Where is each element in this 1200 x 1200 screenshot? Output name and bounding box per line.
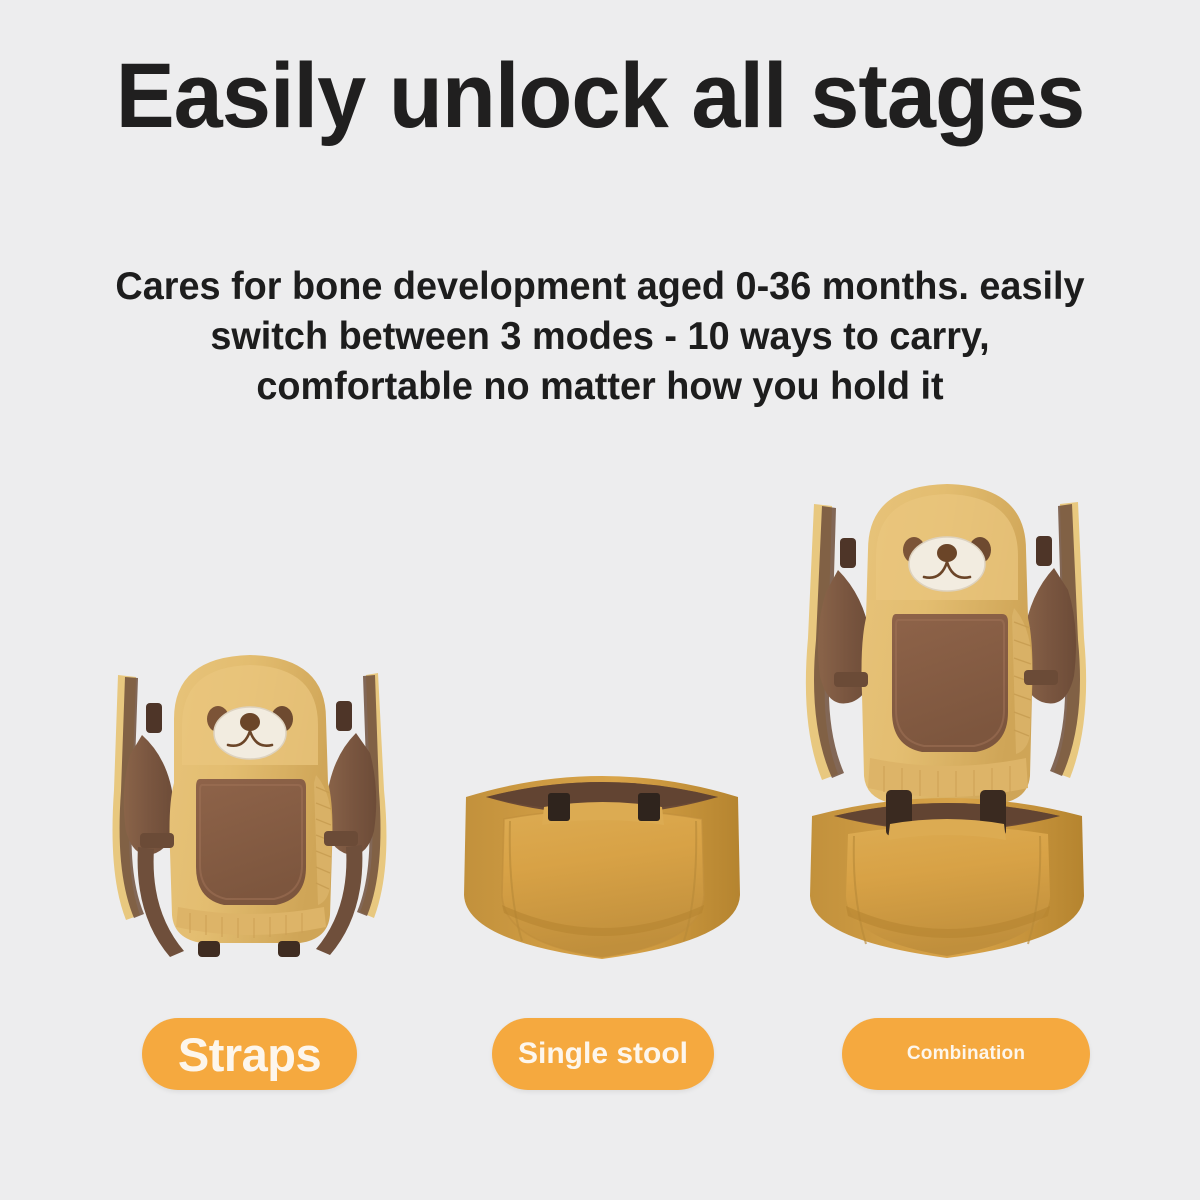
loop-left (548, 793, 570, 821)
buckle-bottom-right (278, 941, 300, 957)
mode-label-combination[interactable]: Combination (842, 1018, 1090, 1090)
subtitle-line-2: switch between 3 modes - 10 ways to carr… (47, 312, 1153, 362)
buckle-upper-left (146, 703, 162, 733)
buckle-mid-left (834, 672, 868, 687)
front-pocket (892, 614, 1008, 752)
page-title: Easily unlock all stages (24, 48, 1176, 144)
mode-label-straps[interactable]: Straps (142, 1018, 357, 1090)
product-image-single-stool (452, 745, 752, 980)
nose (937, 544, 957, 562)
buckle-mid-left (140, 833, 174, 848)
mode-label-single-stool[interactable]: Single stool (492, 1018, 714, 1090)
product-image-row (0, 430, 1200, 1010)
loop-right (638, 793, 660, 821)
mode-label-row: Straps Single stool Combination (0, 1018, 1200, 1098)
product-image-straps (78, 615, 423, 990)
buckle-mid-right (1024, 670, 1058, 685)
page-subtitle: Cares for bone development aged 0-36 mon… (47, 262, 1153, 412)
front-pocket (196, 779, 306, 905)
subtitle-line-3: comfortable no matter how you hold it (47, 362, 1153, 412)
product-feature-banner: Easily unlock all stages Cares for bone … (0, 0, 1200, 1200)
buckle-mid-right (324, 831, 358, 846)
buckle-bottom-left (198, 941, 220, 957)
subtitle-line-1: Cares for bone development aged 0-36 mon… (47, 262, 1153, 312)
product-image-combination (782, 458, 1112, 983)
buckle-upper-right (336, 701, 352, 731)
buckle-upper-right (1036, 536, 1052, 566)
buckle-upper-left (840, 538, 856, 568)
nose (240, 713, 260, 731)
